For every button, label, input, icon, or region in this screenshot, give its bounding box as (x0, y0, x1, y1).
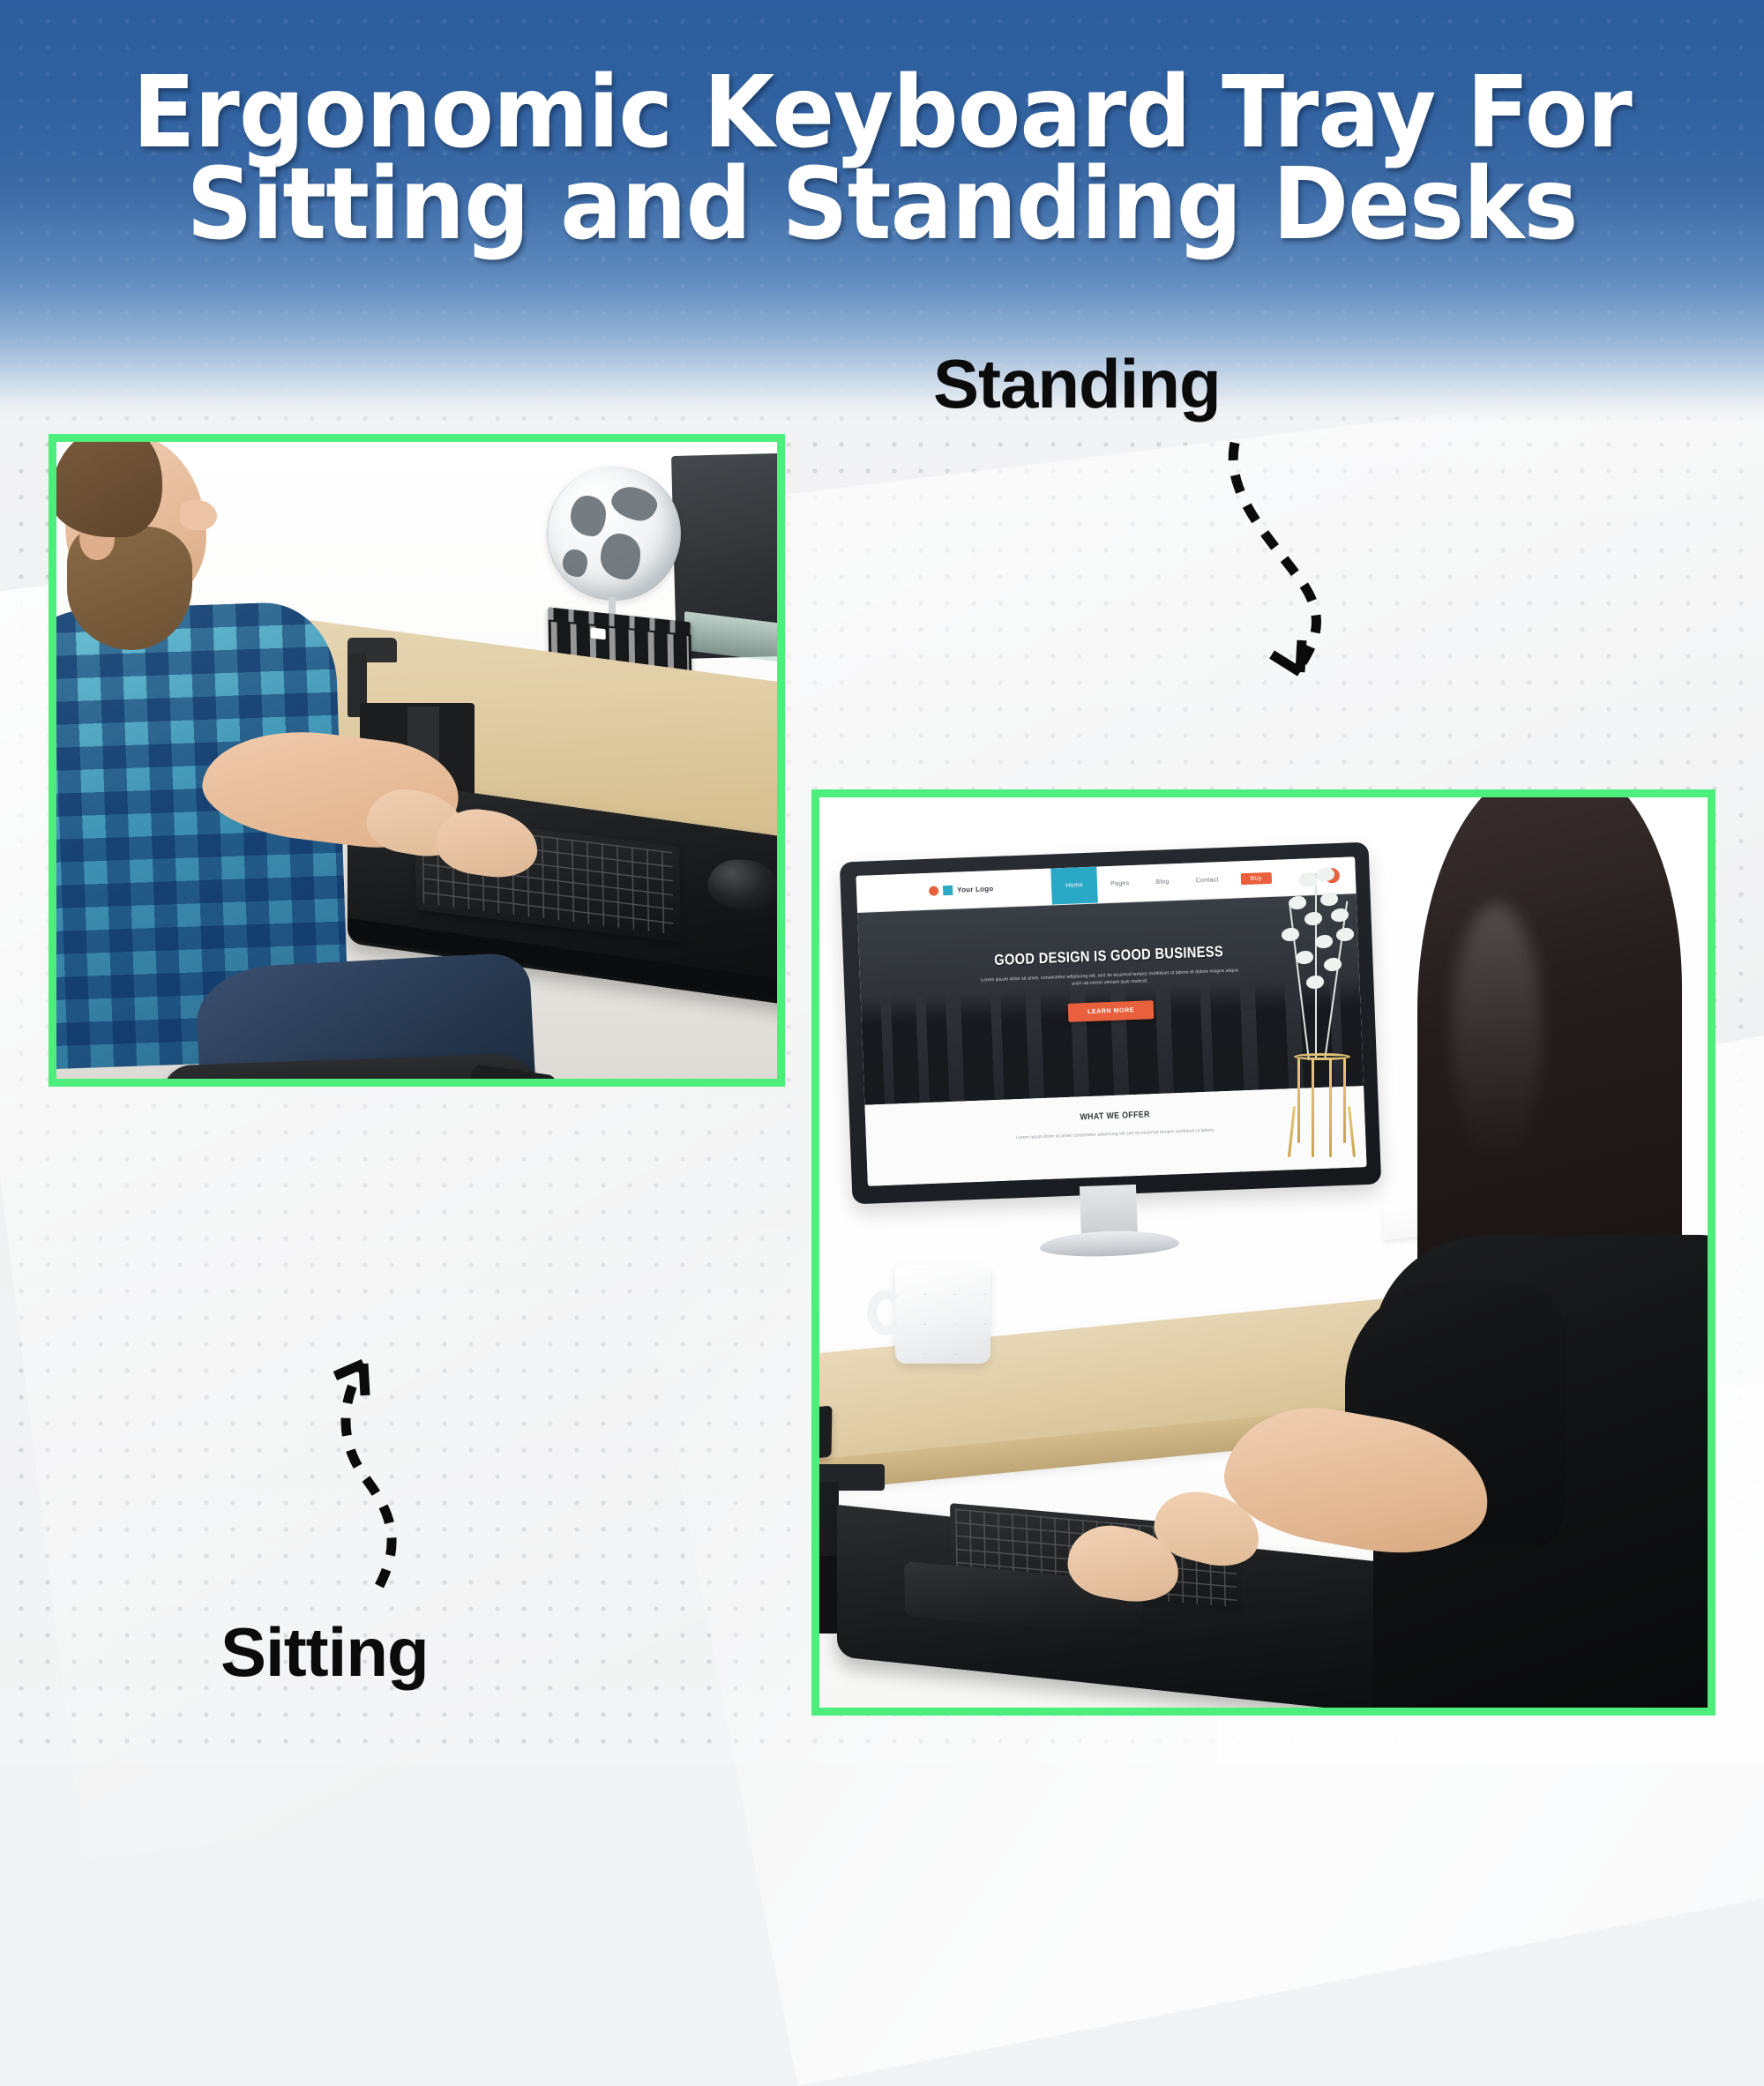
logo-square-icon (943, 886, 953, 895)
gold-wire-vase (1285, 1053, 1359, 1163)
logo-text: Your Logo (957, 885, 994, 894)
nav-item-blog[interactable]: Blog (1142, 879, 1182, 886)
title-line-1: Ergonomic Keyboard Tray For (62, 67, 1702, 159)
eucalyptus-stems (1266, 866, 1372, 1060)
callout-label-sitting: Sitting (220, 1612, 429, 1693)
photo-sitting (49, 434, 785, 1087)
sitting-scene (56, 442, 777, 1079)
mug-facet-pattern (895, 1265, 990, 1364)
hero-title: GOOD DESIGN IS GOOD BUSINESS (894, 939, 1324, 974)
nav-item-home[interactable]: Home (1050, 867, 1097, 905)
person-hair (51, 434, 162, 537)
website-logo: Your Logo (929, 884, 994, 896)
mug-handle (867, 1290, 906, 1335)
offer-section-title: WHAT WE OFFER (895, 1103, 1334, 1129)
offer-section-subtitle: Lorem ipsum dolor sit amet consectetur a… (996, 1126, 1236, 1142)
person-hair-highlight (1451, 903, 1543, 1168)
learn-more-button[interactable]: LEARN MORE (1068, 1000, 1155, 1022)
callout-arrow-standing-icon (1217, 432, 1446, 688)
callout-arrow-sitting-icon (291, 1358, 485, 1596)
nav-item-contact[interactable]: Contact (1182, 877, 1231, 885)
coffee-mug (895, 1265, 990, 1364)
page-title: Ergonomic Keyboard Tray For Sitting and … (0, 67, 1764, 250)
globe-meridian (547, 467, 681, 601)
person-nose (180, 500, 217, 530)
title-line-2: Sitting and Standing Desks (62, 159, 1702, 250)
callout-label-standing: Standing (933, 344, 1221, 424)
nav-item-pages[interactable]: Pages (1097, 880, 1143, 888)
photo-standing: Your Logo Home Pages Blog Contact Buy Ca… (811, 789, 1715, 1716)
calendar-highlighted-day (591, 627, 606, 639)
vase-rim (1294, 1053, 1350, 1060)
logo-circle-icon (929, 886, 938, 895)
standing-scene: Your Logo Home Pages Blog Contact Buy Ca… (819, 797, 1708, 1708)
globe-decor-icon (547, 467, 681, 601)
